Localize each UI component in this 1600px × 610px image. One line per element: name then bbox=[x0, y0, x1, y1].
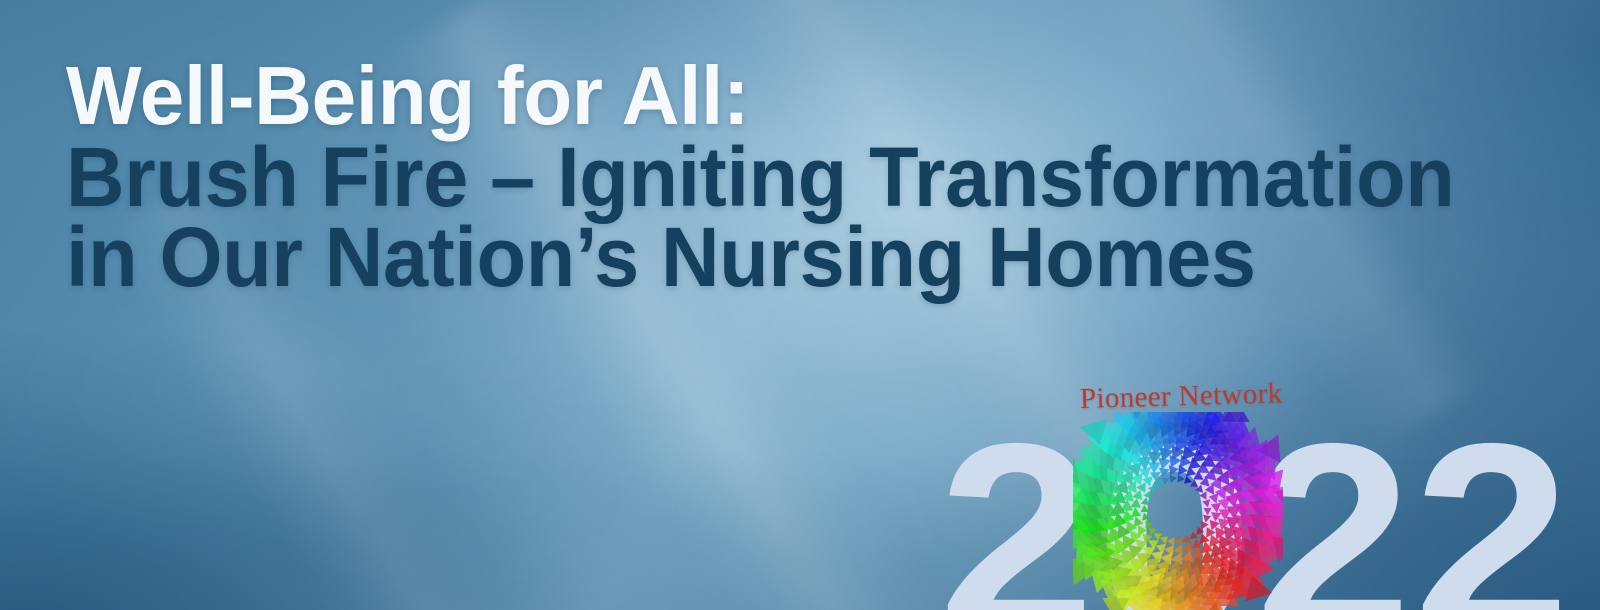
headline-line-3: in Our Nation’s Nursing Homes bbox=[66, 217, 1454, 297]
banner-headline: Well-Being for All: Brush Fire – Ignitin… bbox=[66, 56, 1505, 298]
spiral-mandala-icon bbox=[1073, 412, 1283, 610]
brand-wordmark: Pioneer Network bbox=[1080, 377, 1283, 416]
headline-line-2: Brush Fire – Igniting Transformation bbox=[66, 137, 1454, 217]
conference-banner: Well-Being for All: Brush Fire – Ignitin… bbox=[0, 0, 1600, 610]
headline-line-1: Well-Being for All: bbox=[66, 56, 1454, 135]
